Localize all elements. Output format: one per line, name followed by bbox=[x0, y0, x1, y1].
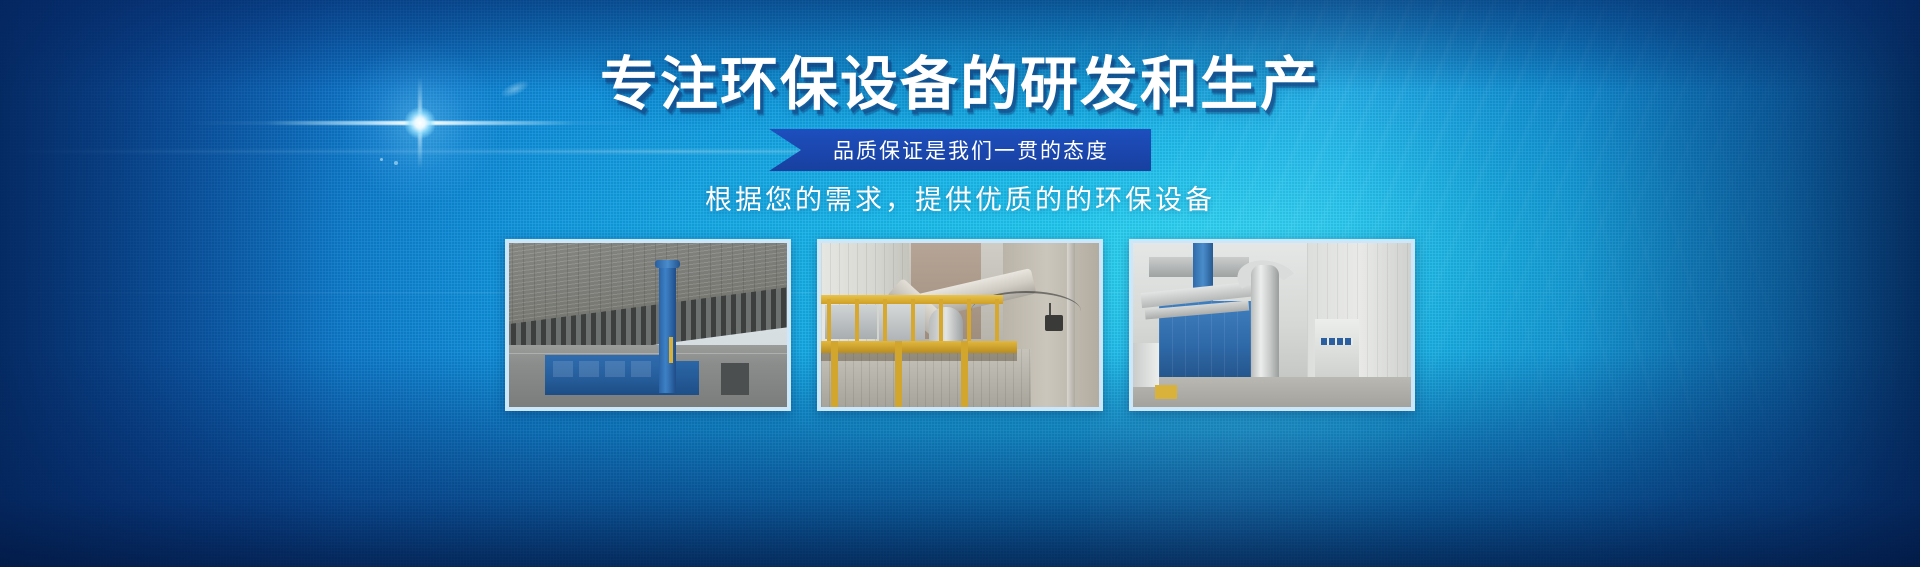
banner-tagline: 根据您的需求，提供优质的的环保设备 bbox=[0, 178, 1920, 217]
dust-collector-photo bbox=[1133, 243, 1411, 407]
photo-card-1[interactable] bbox=[505, 239, 791, 411]
photo-gallery bbox=[0, 239, 1920, 411]
hero-banner: 专注环保设备的研发和生产 品质保证是我们一贯的态度 根据您的需求，提供优质的的环… bbox=[0, 0, 1920, 567]
subtitle-ribbon: 品质保证是我们一贯的态度 bbox=[769, 129, 1151, 171]
photo-card-3[interactable] bbox=[1129, 239, 1415, 411]
workshop-exterior-photo bbox=[509, 243, 787, 407]
photo-card-2[interactable] bbox=[817, 239, 1103, 411]
industrial-plant-photo bbox=[821, 243, 1099, 407]
banner-headline: 专注环保设备的研发和生产 bbox=[0, 56, 1920, 114]
ribbon-label: 品质保证是我们一贯的态度 bbox=[833, 135, 1109, 165]
ribbon-container: 品质保证是我们一贯的态度 bbox=[0, 129, 1920, 171]
